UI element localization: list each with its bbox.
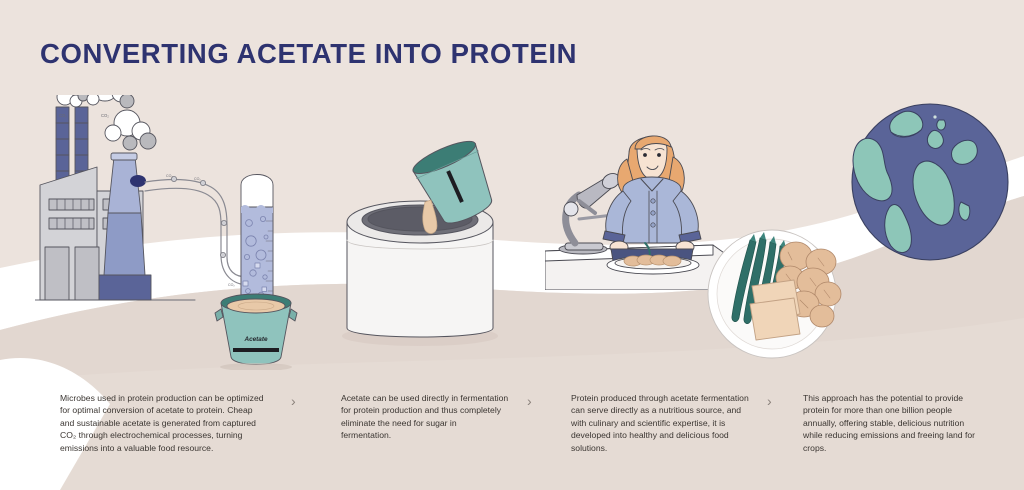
infographic-root: CONVERTING ACETATE INTO PROTEIN <box>0 0 1024 490</box>
chevron-right-icon: › <box>767 394 772 408</box>
fermentation-tank-illustration <box>325 140 535 365</box>
step-caption-2: Acetate can be used directly in fermenta… <box>341 392 509 442</box>
co2-label: CO₂ <box>194 177 201 181</box>
chef-figure <box>603 136 701 261</box>
acetate-bucket: Acetate <box>215 294 297 365</box>
food-plate-illustration <box>698 222 853 372</box>
co2-capture-pipe <box>145 179 249 285</box>
emission-clouds <box>57 95 156 150</box>
co2-label: CO₂ <box>59 113 67 118</box>
page-title: CONVERTING ACETATE INTO PROTEIN <box>40 38 577 70</box>
step-caption-4: This approach has the potential to provi… <box>803 392 975 454</box>
globe-illustration <box>845 98 1015 270</box>
step-caption-3: Protein produced through acetate ferment… <box>571 392 749 454</box>
co2-label: CO₂ <box>101 113 109 118</box>
chevron-right-icon: › <box>527 394 532 408</box>
co2-label: CO₂ <box>228 283 235 287</box>
step-caption-1: Microbes used in protein production can … <box>60 392 265 454</box>
chevron-right-icon: › <box>291 394 296 408</box>
co2-label: CO₂ <box>166 174 173 178</box>
bread-slices <box>750 280 800 340</box>
caption-row: Microbes used in protein production can … <box>0 392 1024 490</box>
factory-electrochemical-reactor-illustration: CO₂ CO₂ CO₂ CO₂ CO₂ CO₂ CO₂ <box>35 95 300 370</box>
bucket-label: Acetate <box>243 336 268 343</box>
